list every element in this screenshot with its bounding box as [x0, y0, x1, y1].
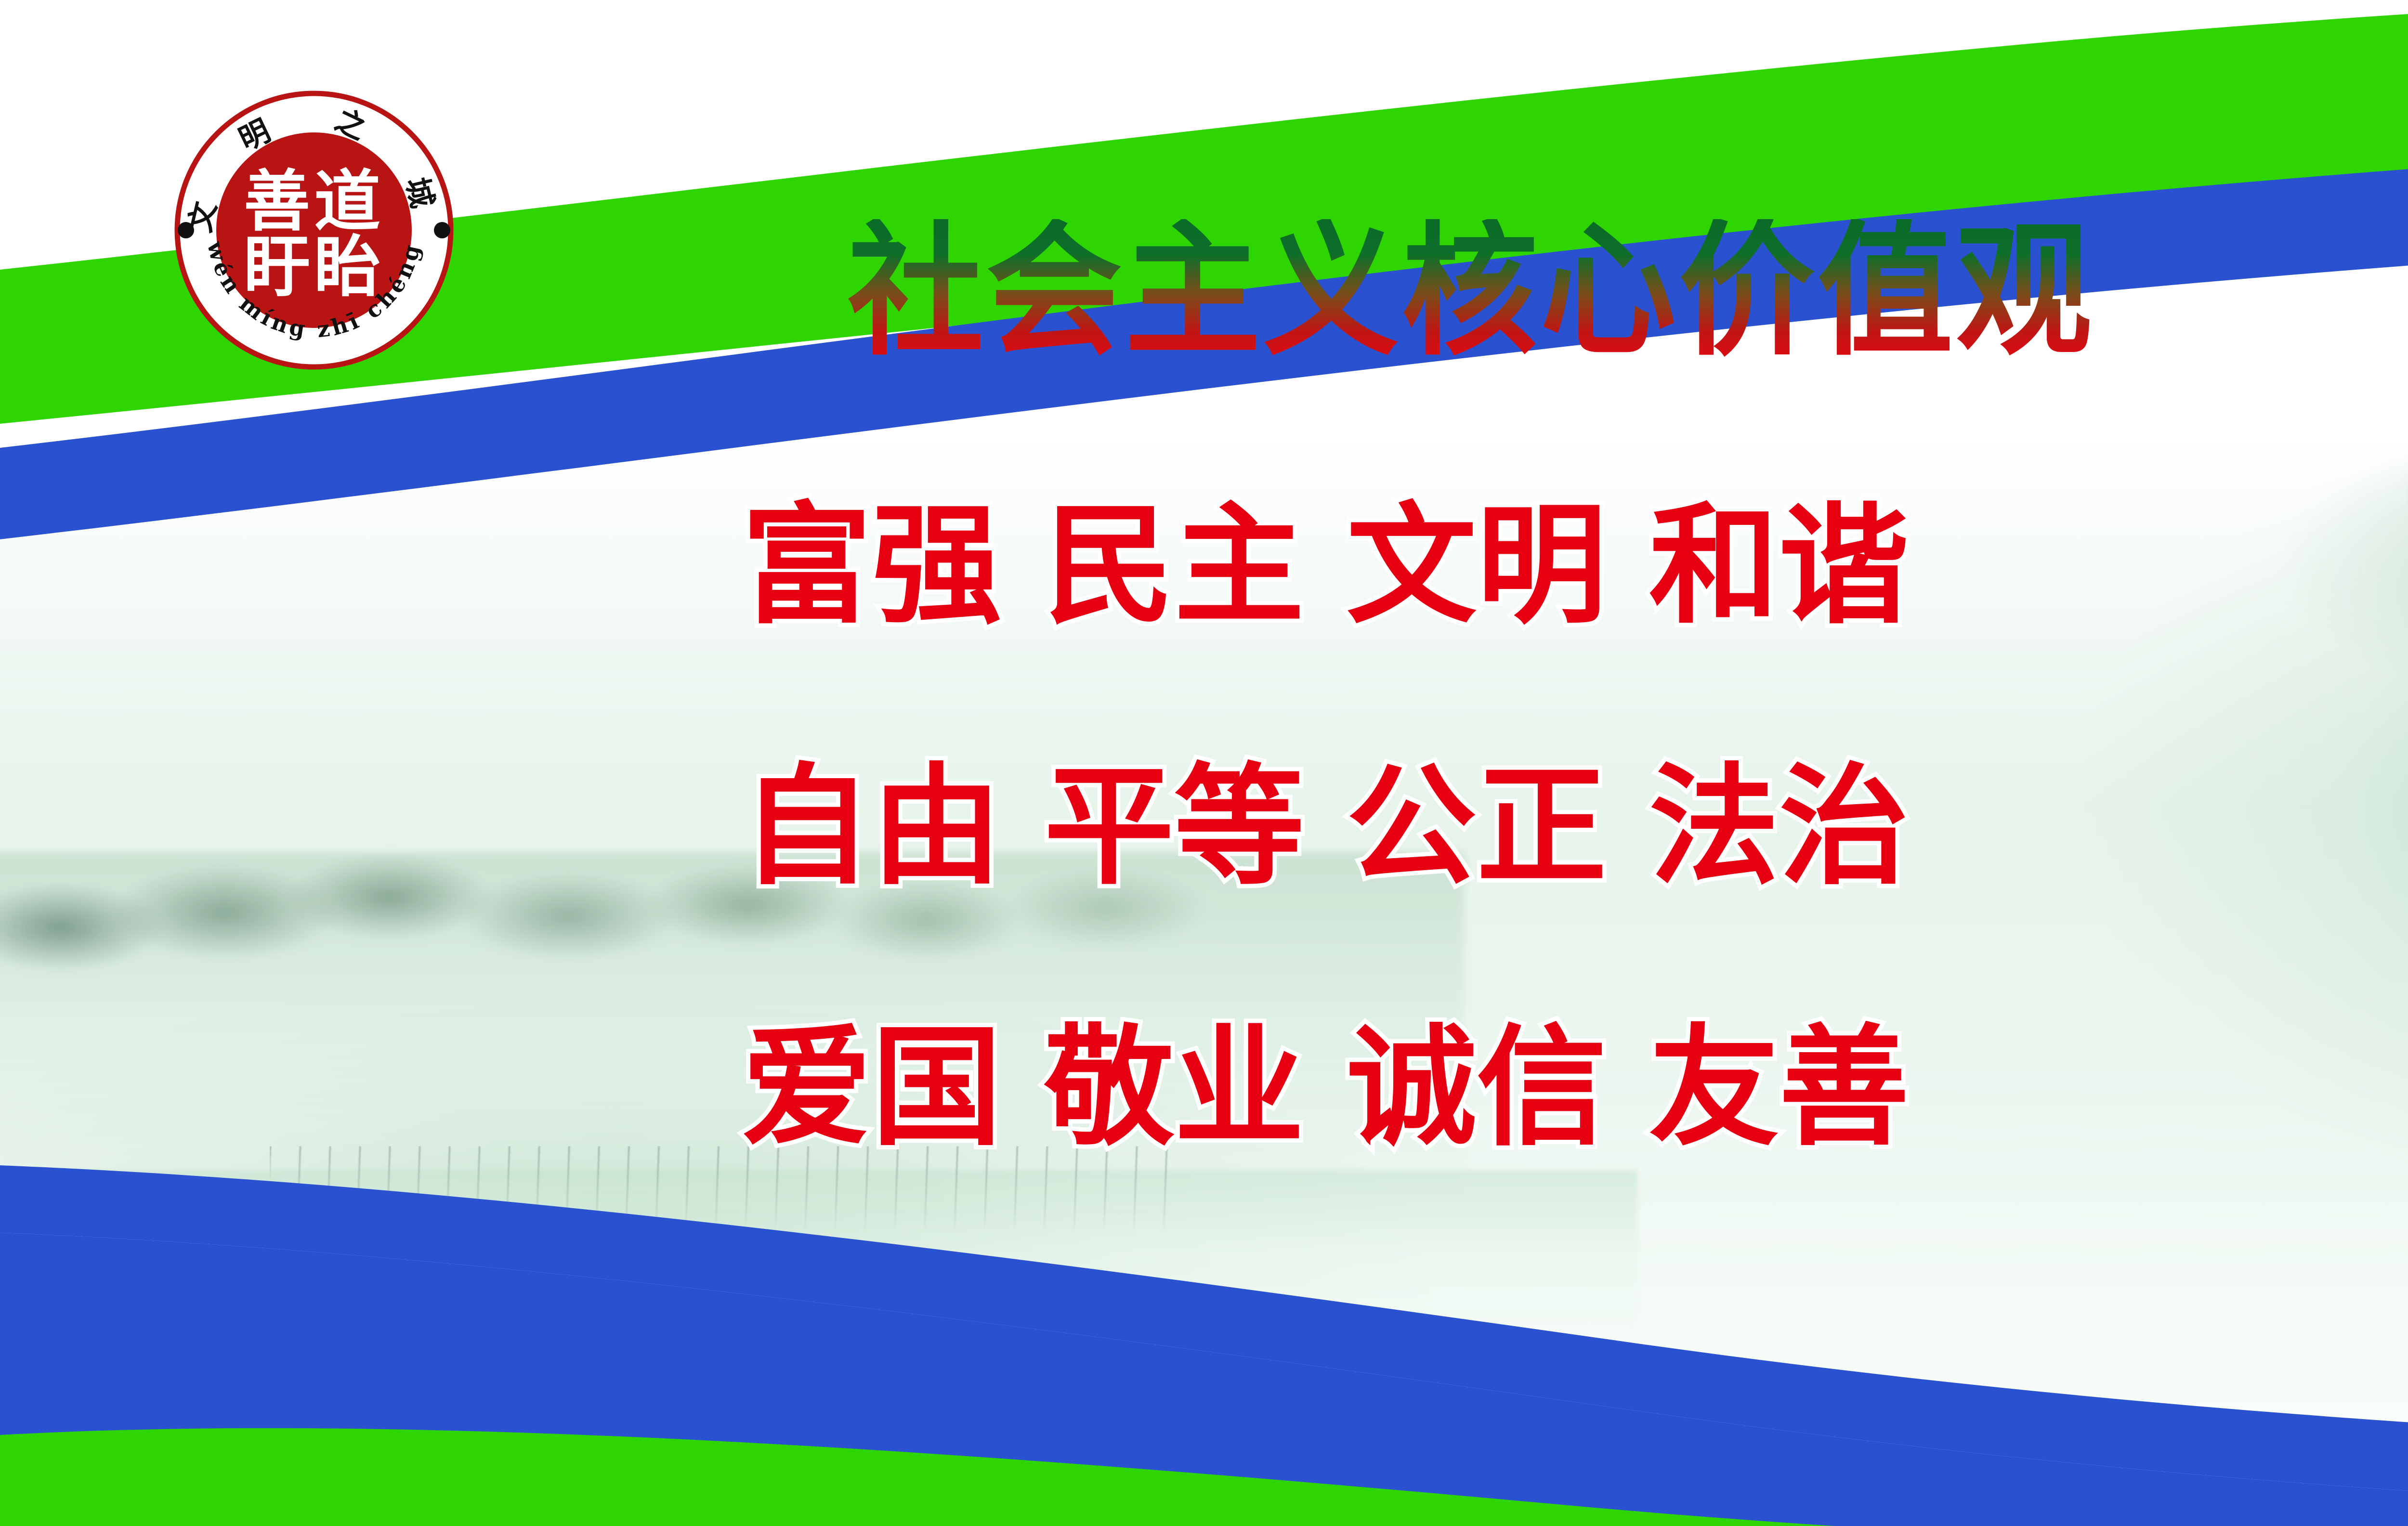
value-word: 民主 [1044, 490, 1304, 641]
value-word: 敬业 [1044, 1012, 1304, 1163]
value-word: 法治 [1649, 751, 1909, 902]
city-logo-seal: 文 明 之 城 wén míng zhī chéng 善道 盱眙 [170, 86, 458, 375]
value-word: 和谐 [1649, 490, 1909, 641]
value-word: 文明 [1347, 490, 1607, 641]
value-word: 公正 [1347, 751, 1607, 902]
value-row: 自由平等公正法治 [742, 762, 2408, 892]
value-word: 平等 [1044, 751, 1304, 902]
value-row: 爱国敬业诚信友善 [742, 1023, 2408, 1153]
core-values-block: 富强民主文明和谐 自由平等公正法治 爱国敬业诚信友善 [742, 501, 2408, 1153]
value-word: 诚信 [1347, 1012, 1607, 1163]
value-word: 自由 [742, 751, 1002, 902]
value-row: 富强民主文明和谐 [742, 501, 2408, 631]
poster-canvas: 文 明 之 城 wén míng zhī chéng 善道 盱眙 社会主义核心价… [0, 0, 2408, 1526]
value-word: 富强 [742, 490, 1002, 641]
value-word: 友善 [1649, 1012, 1909, 1163]
seal-center-line-2: 盱眙 [244, 228, 384, 306]
value-word: 爱国 [742, 1012, 1002, 1163]
page-title: 社会主义核心价值观 [848, 219, 2094, 364]
